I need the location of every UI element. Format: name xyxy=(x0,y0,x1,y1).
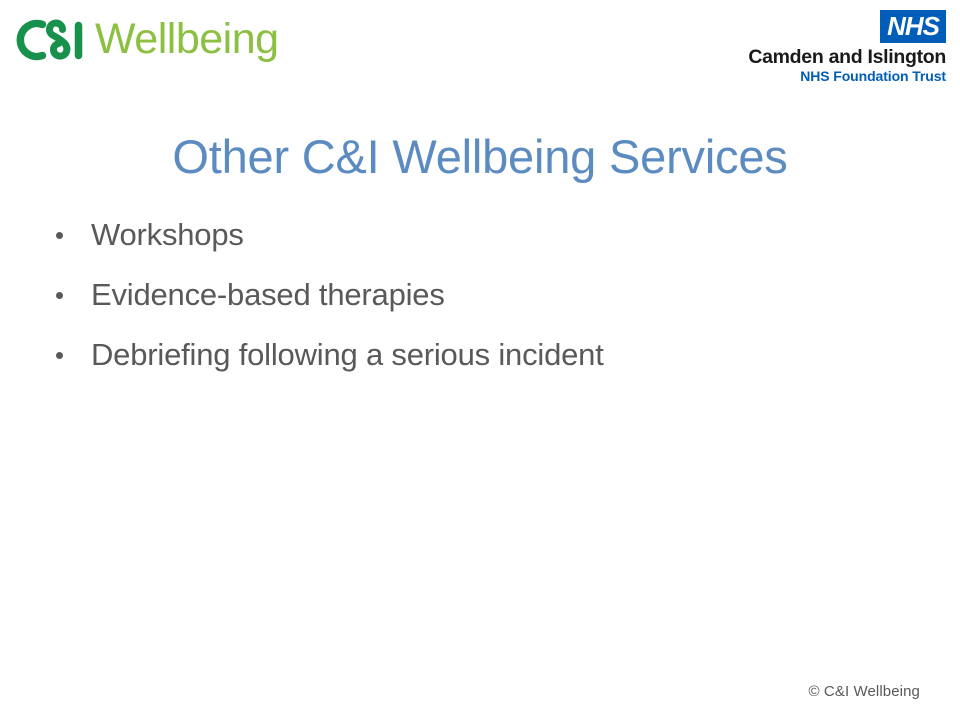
bullet-dot-icon xyxy=(56,232,63,239)
bullet-list: Workshops Evidence-based therapies Debri… xyxy=(56,216,896,395)
footer-copyright: © C&I Wellbeing xyxy=(809,683,921,700)
bullet-item-label: Workshops xyxy=(91,216,244,255)
bullet-item-label: Evidence-based therapies xyxy=(91,276,445,315)
list-item: Evidence-based therapies xyxy=(56,276,896,315)
presentation-slide: Wellbeing NHS Camden and Islington NHS F… xyxy=(0,0,960,720)
ci-wellbeing-logo: Wellbeing xyxy=(16,14,306,66)
nhs-trust-name: Camden and Islington xyxy=(731,47,946,67)
list-item: Debriefing following a serious incident xyxy=(56,336,896,375)
nhs-logo-box: NHS xyxy=(880,10,946,43)
list-item: Workshops xyxy=(56,216,896,255)
nhs-trust-logo: NHS Camden and Islington NHS Foundation … xyxy=(731,10,946,84)
ci-ampersand-logo-icon xyxy=(16,17,94,63)
bullet-dot-icon xyxy=(56,292,63,299)
nhs-logo-text: NHS xyxy=(887,13,939,39)
bullet-item-label: Debriefing following a serious incident xyxy=(91,336,604,375)
slide-title: Other C&I Wellbeing Services xyxy=(60,131,900,183)
nhs-trust-subtitle: NHS Foundation Trust xyxy=(731,69,946,84)
ci-logo-wordmark: Wellbeing xyxy=(95,18,279,61)
bullet-dot-icon xyxy=(56,352,63,359)
